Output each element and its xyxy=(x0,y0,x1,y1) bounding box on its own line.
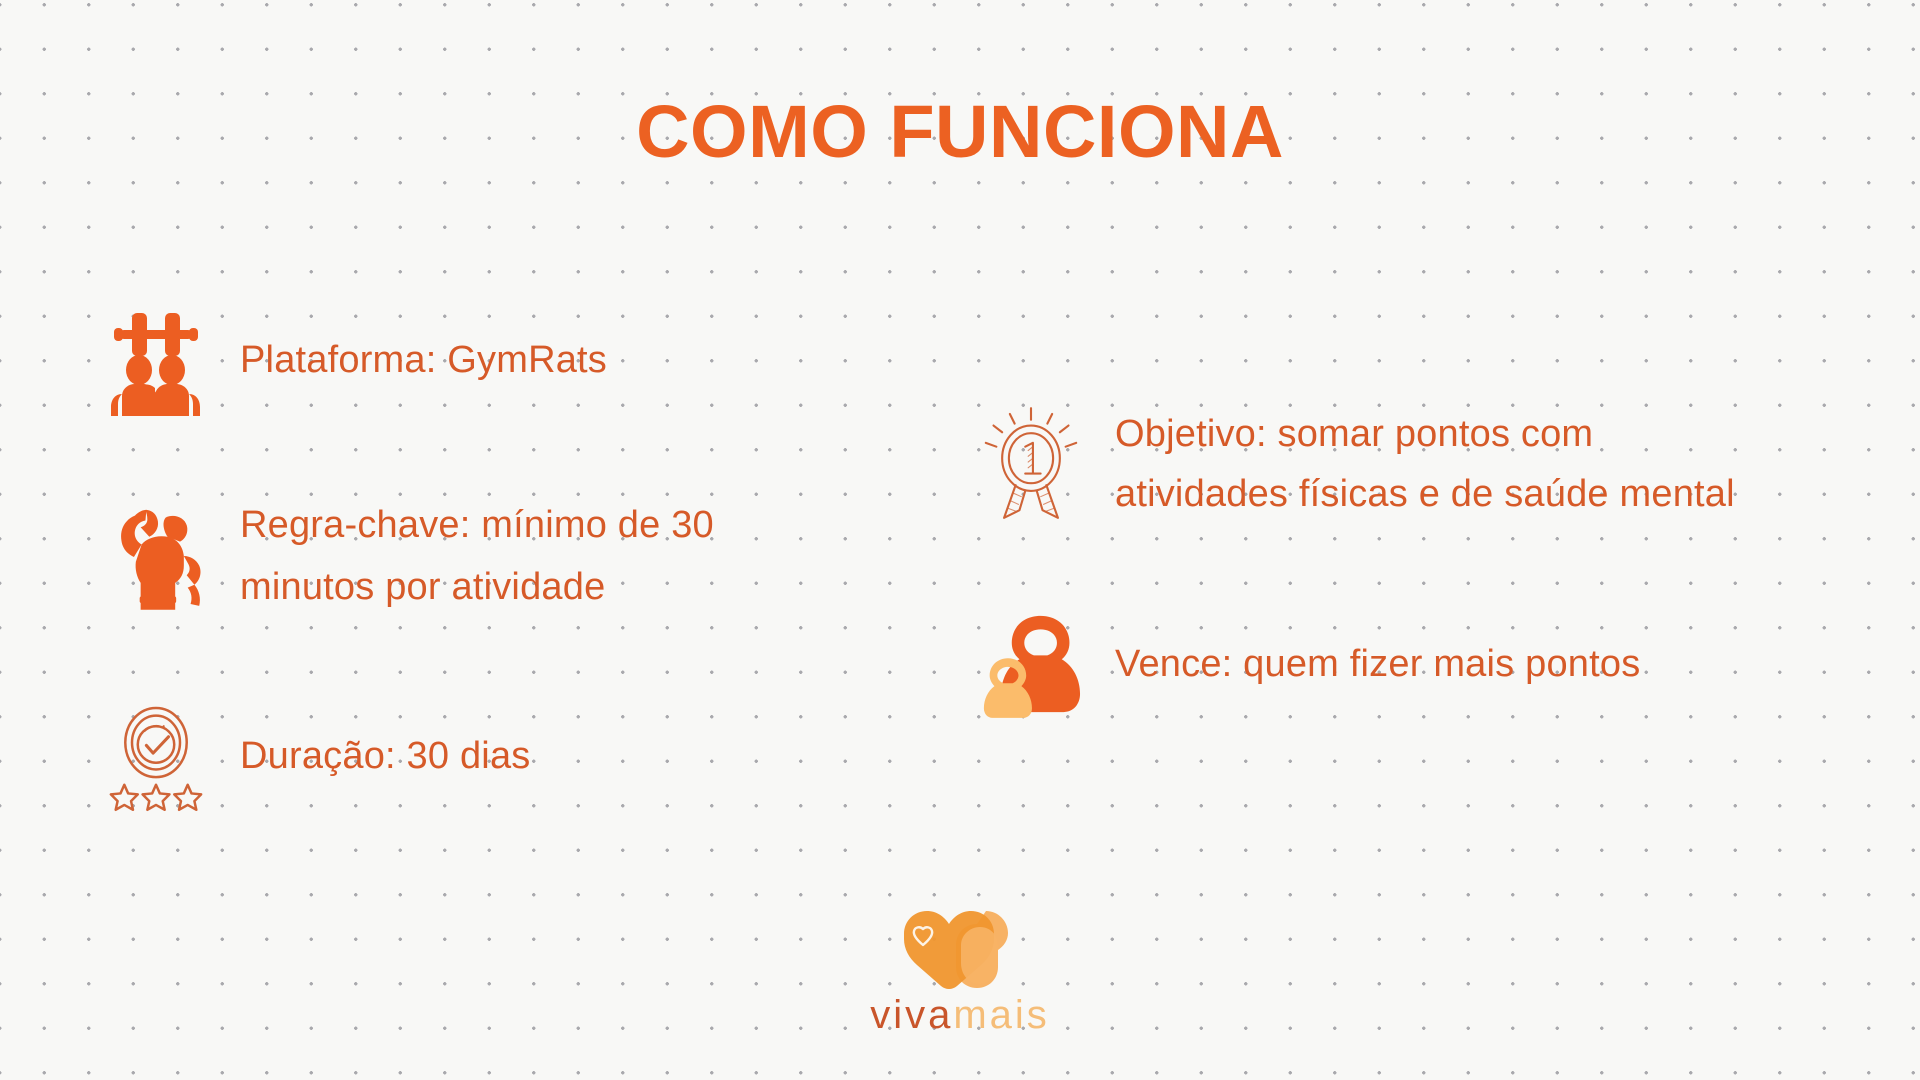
brand-word-mais: mais xyxy=(953,993,1049,1037)
kettlebell-icon xyxy=(975,600,1087,728)
list-item-platform-label: Plataforma: GymRats xyxy=(240,329,607,391)
first-place-medal-icon xyxy=(975,400,1087,528)
list-item-rule: Regra-chave: mínimo de 30 minutos por at… xyxy=(100,492,940,620)
flexing-bicep-bodybuilder-icon xyxy=(100,492,212,620)
page-title: COMO FUNCIONA xyxy=(0,92,1920,172)
brand-word-viva: viva xyxy=(870,993,953,1037)
brand-logo-wordmark: vivamais xyxy=(870,993,1050,1038)
slide-root: COMO FUNCIONA xyxy=(0,0,1920,1080)
vivamais-heart-monogram-icon xyxy=(894,905,1026,991)
list-item-objective-label: Objetivo: somar pontos com atividades fí… xyxy=(1115,404,1735,524)
list-item-duration-label: Duração: 30 dias xyxy=(240,725,530,787)
badge-check-stars-icon xyxy=(100,692,212,820)
brand-logo: vivamais xyxy=(0,905,1920,1038)
list-item-winner: Vence: quem fizer mais pontos xyxy=(975,600,1875,728)
list-item-objective: Objetivo: somar pontos com atividades fí… xyxy=(975,400,1875,528)
two-people-barbell-icon xyxy=(100,300,212,420)
list-item-duration: Duração: 30 dias xyxy=(100,692,940,820)
list-item-winner-label: Vence: quem fizer mais pontos xyxy=(1115,633,1640,695)
list-item-platform: Plataforma: GymRats xyxy=(100,300,940,420)
list-item-rule-label: Regra-chave: mínimo de 30 minutos por at… xyxy=(240,494,714,618)
right-column: Objetivo: somar pontos com atividades fí… xyxy=(975,400,1875,728)
left-column: Plataforma: GymRats xyxy=(100,300,940,820)
